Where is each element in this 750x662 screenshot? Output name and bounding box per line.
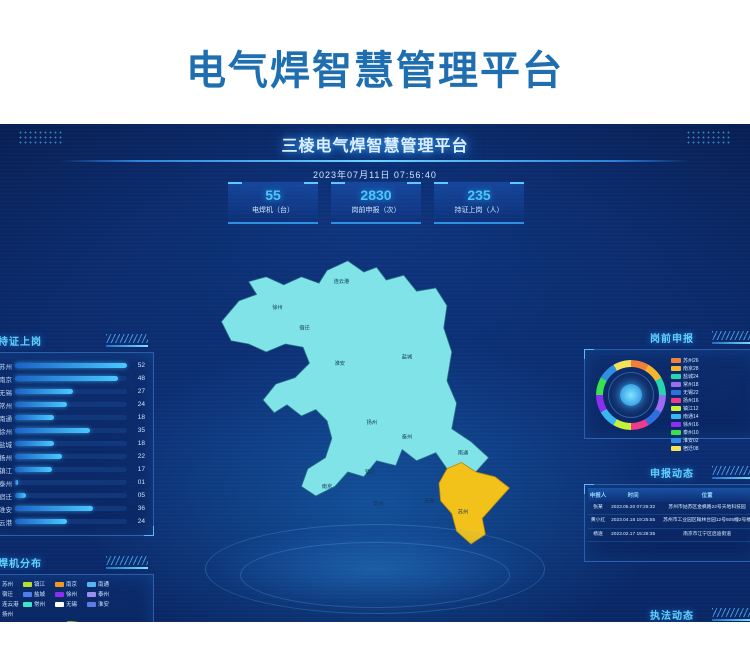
bar-track	[15, 376, 127, 381]
legend-swatch	[671, 438, 681, 443]
bar-track	[15, 454, 127, 459]
legend-item: 宿迁	[0, 590, 20, 598]
legend-swatch	[87, 582, 96, 587]
bar-track	[15, 441, 127, 446]
pie-slice	[67, 621, 100, 622]
legend-swatch	[671, 366, 681, 371]
bar-track	[15, 389, 127, 394]
bar-value: 05	[127, 492, 145, 499]
bar-chart-row: 泰州01	[0, 476, 145, 489]
kpi-value: 55	[228, 187, 318, 203]
map-city-label: 无锡	[424, 496, 434, 504]
table-body: 张某2023.05.20 07:25:32苏州市姑苏区金枫路22号天地科技园黄小…	[588, 502, 750, 542]
legend-label: 盐城24	[683, 373, 699, 380]
column-header: 申报人	[588, 488, 608, 502]
bar-label: 南通	[0, 413, 15, 423]
panel-header: 焊机分布	[0, 554, 154, 574]
legend-label: 淮安	[98, 600, 109, 608]
kpi-value: 235	[434, 187, 524, 203]
legend-item: 宿迁08	[671, 445, 713, 452]
legend-item: 盐城	[23, 590, 52, 598]
bar-fill	[15, 493, 26, 498]
bar-chart-row: 连云港24	[0, 515, 145, 528]
kpi-card-certified: 235 持证上岗（人）	[434, 182, 524, 224]
bar-label: 常州	[0, 400, 15, 410]
map-svg[interactable]: 徐州连云港宿迁淮安盐城扬州泰州南通南京镇江常州无锡苏州	[165, 232, 585, 552]
legend-item: 淮安	[87, 600, 116, 608]
bar-label: 淮安	[0, 504, 15, 514]
bar-fill	[15, 506, 93, 511]
legend-item: 南京	[55, 580, 84, 588]
underline-decor	[712, 477, 750, 479]
legend-item: 镇江	[23, 580, 52, 588]
legend-swatch	[23, 592, 32, 597]
legend-label: 无锡22	[683, 389, 699, 396]
table-row[interactable]: 张某2023.05.20 07:25:32苏州市姑苏区金枫路22号天地科技园	[588, 502, 750, 515]
legend-swatch	[23, 582, 32, 587]
legend-item: 常州18	[671, 381, 713, 388]
legend-label: 宿迁	[2, 590, 13, 598]
legend-label: 无锡	[66, 600, 77, 608]
legend-label: 南通	[98, 580, 109, 588]
bar-track	[15, 415, 127, 420]
table-cell: 苏州市工业园区翰林台园12号505幢2号楼	[658, 515, 750, 528]
legend-label: 扬州	[2, 610, 13, 618]
bar-label: 南京	[0, 374, 15, 384]
bar-track	[15, 363, 127, 368]
bar-track	[15, 402, 127, 407]
bar-chart-row: 扬州22	[0, 450, 145, 463]
table-cell: 2023.04.18 19:25:55	[608, 515, 658, 528]
underline-decor	[106, 567, 148, 569]
bar-label: 宿迁	[0, 491, 15, 501]
legend-swatch	[671, 382, 681, 387]
dashboard-header: 三棱电气焊智慧管理平台	[0, 124, 750, 166]
table-cell: 2023.05.20 07:25:32	[608, 502, 658, 515]
table-header-row: 申报人 时间 位置	[588, 488, 750, 502]
table-cell: 南京市江宁区启迪街道	[658, 528, 750, 541]
legend-label: 淮安02	[683, 437, 699, 444]
bar-chart-rows: 苏州52南京48无锡27常州24南通18徐州35盐城18扬州22镇江17泰州01…	[0, 359, 145, 528]
map-region-north[interactable]	[221, 261, 488, 496]
legend-item: 泰州	[87, 590, 116, 598]
table-row[interactable]: 黄小红2023.04.18 19:25:55苏州市工业园区翰林台园12号505幢…	[588, 515, 750, 528]
donut-legend: 苏州26南京28盐城24常州18无锡22扬州16镇江12南通14徐州16泰州10…	[671, 354, 750, 434]
panel-title: 焊机分布	[0, 555, 42, 570]
bar-chart-row: 淮安36	[0, 502, 145, 515]
hatch-decor-icon	[712, 466, 750, 475]
bar-label: 徐州	[0, 426, 15, 436]
legend-swatch	[87, 592, 96, 597]
legend-swatch	[671, 406, 681, 411]
kpi-value: 2830	[331, 187, 421, 203]
legend-label: 常州	[34, 600, 45, 608]
panel-body: 苏州镇江南京南通宿迁盐城徐州泰州连云港常州无锡淮安扬州	[0, 574, 154, 622]
bar-value: 24	[127, 518, 145, 525]
column-header: 时间	[608, 488, 658, 502]
panel-header: 岗前申报	[584, 329, 750, 349]
donut-core-glow-icon	[620, 384, 642, 406]
kpi-label: 岗前申报（次）	[331, 205, 421, 215]
legend-swatch	[671, 430, 681, 435]
kpi-label: 持证上岗（人）	[434, 205, 524, 215]
kpi-label: 电焊机（台）	[228, 205, 318, 215]
legend-item: 苏州26	[671, 357, 713, 364]
bar-chart-row: 徐州35	[0, 424, 145, 437]
bar-track	[15, 428, 127, 433]
legend-swatch	[671, 358, 681, 363]
panel-welder-distribution: 焊机分布 苏州镇江南京南通宿迁盐城徐州泰州连云港常州无锡淮安扬州	[0, 554, 154, 622]
legend-label: 苏州	[2, 580, 13, 588]
legend-swatch	[671, 414, 681, 419]
panel-certified-bar-chart: 持证上岗 苏州52南京48无锡27常州24南通18徐州35盐城18扬州22镇江1…	[0, 332, 154, 536]
legend-label: 泰州10	[683, 429, 699, 436]
table-cell: 张某	[588, 502, 608, 515]
bar-chart-row: 盐城18	[0, 437, 145, 450]
bar-value: 36	[127, 505, 145, 512]
legend-swatch	[55, 602, 64, 607]
bar-fill	[15, 428, 90, 433]
legend-item: 淮安02	[671, 437, 713, 444]
bar-label: 苏州	[0, 361, 15, 371]
bar-chart-row: 常州24	[0, 398, 145, 411]
bar-fill	[15, 376, 118, 381]
bar-fill	[15, 480, 18, 485]
hatch-decor-icon	[106, 556, 148, 565]
legend-item: 徐州16	[671, 421, 713, 428]
dashboard-title: 三棱电气焊智慧管理平台	[0, 132, 750, 156]
bar-label: 连云港	[0, 517, 15, 527]
declaration-table: 申报人 时间 位置 张某2023.05.20 07:25:32苏州市姑苏区金枫路…	[588, 488, 750, 542]
table-cell: 2023.02.17 15:28:35	[608, 528, 658, 541]
bar-chart-row: 南京48	[0, 372, 145, 385]
legend-item: 镇江12	[671, 405, 713, 412]
legend-swatch	[671, 390, 681, 395]
legend-label: 镇江12	[683, 405, 699, 412]
bar-track	[15, 506, 127, 511]
legend-swatch	[87, 602, 96, 607]
bar-value: 17	[127, 466, 145, 473]
donut-chart	[589, 354, 671, 434]
map-base-ring	[240, 542, 510, 608]
legend-swatch	[23, 602, 32, 607]
panel-title: 持证上岗	[0, 333, 42, 348]
legend-label: 苏州26	[683, 357, 699, 364]
legend-item: 南通14	[671, 413, 713, 420]
bar-value: 18	[127, 440, 145, 447]
bar-fill	[15, 441, 54, 446]
table-cell: 苏州市姑苏区金枫路22号天地科技园	[658, 502, 750, 515]
legend-label: 南京	[66, 580, 77, 588]
bar-track	[15, 467, 127, 472]
map-city-label: 常州	[373, 500, 383, 508]
legend-label: 连云港	[2, 600, 19, 608]
kpi-row: 55 电焊机（台） 2830 岗前申报（次） 235 持证上岗（人）	[228, 182, 524, 224]
jiangsu-map[interactable]: 徐州连云港宿迁淮安盐城扬州泰州南通南京镇江常州无锡苏州	[165, 232, 585, 552]
bar-chart-row: 苏州52	[0, 359, 145, 372]
panel-body: 申报人 时间 位置 张某2023.05.20 07:25:32苏州市姑苏区金枫路…	[584, 484, 750, 562]
pie-chart-svg	[28, 621, 110, 622]
dashboard: 三棱电气焊智慧管理平台 2023年07月11日 07:56:40 55 电焊机（…	[0, 124, 750, 622]
legend-item: 无锡22	[671, 389, 713, 396]
legend-item: 常州	[23, 600, 52, 608]
legend-label: 南通14	[683, 413, 699, 420]
bar-label: 无锡	[0, 387, 15, 397]
legend-label: 常州18	[683, 381, 699, 388]
bar-label: 扬州	[0, 452, 15, 462]
legend-label: 宿迁08	[683, 445, 699, 452]
bar-fill	[15, 454, 62, 459]
table-row[interactable]: 杨逐2023.02.17 15:28:35南京市江宁区启迪街道	[588, 528, 750, 541]
legend-label: 泰州	[98, 590, 109, 598]
panel-declaration-dynamic: 申报动态 申报人 时间 位置 张某2023.05.20 07:25:32苏州市姑…	[584, 464, 750, 562]
legend-swatch	[55, 592, 64, 597]
legend-swatch	[671, 374, 681, 379]
bar-label: 镇江	[0, 465, 15, 475]
bar-label: 盐城	[0, 439, 15, 449]
legend-item: 泰州10	[671, 429, 713, 436]
panel-body: 苏州52南京48无锡27常州24南通18徐州35盐城18扬州22镇江17泰州01…	[0, 352, 154, 536]
bar-chart-row: 镇江17	[0, 463, 145, 476]
header-divider	[60, 160, 690, 162]
panel-declaration-donut: 岗前申报 苏州26南京28盐城24常州18无锡22扬州16镇江12南通14徐州1…	[584, 329, 750, 439]
bar-chart-row: 无锡27	[0, 385, 145, 398]
bar-chart-row: 南通18	[0, 411, 145, 424]
panel-law-enforcement: 执法动态 执法对象 违规原因 处罚结果 郑伟无证上岗作业教育丹丹无证上岗作业罚款…	[584, 606, 750, 622]
legend-item: 南通	[87, 580, 116, 588]
bar-label: 泰州	[0, 478, 15, 488]
bar-fill	[15, 519, 67, 524]
bar-value: 52	[127, 362, 145, 369]
bar-track	[15, 493, 127, 498]
panel-body: 苏州26南京28盐城24常州18无锡22扬州16镇江12南通14徐州16泰州10…	[584, 349, 750, 439]
legend-label: 徐州	[66, 590, 77, 598]
bar-fill	[15, 363, 127, 368]
bar-value: 18	[127, 414, 145, 421]
bar-fill	[15, 389, 73, 394]
hatch-decor-icon	[712, 608, 750, 617]
panel-header: 申报动态	[584, 464, 750, 484]
underline-decor	[712, 342, 750, 344]
table-cell: 黄小红	[588, 515, 608, 528]
kpi-card-welders: 55 电焊机（台）	[228, 182, 318, 224]
hatch-decor-icon	[106, 334, 148, 343]
table-cell: 杨逐	[588, 528, 608, 541]
kpi-card-declarations: 2830 岗前申报（次）	[331, 182, 421, 224]
bar-value: 27	[127, 388, 145, 395]
panel-header: 执法动态	[584, 606, 750, 622]
bar-value: 24	[127, 401, 145, 408]
bar-track	[15, 519, 127, 524]
pie-legend: 苏州镇江南京南通宿迁盐城徐州泰州连云港常州无锡淮安扬州	[0, 580, 147, 618]
bar-value: 48	[127, 375, 145, 382]
bar-value: 35	[127, 427, 145, 434]
legend-swatch	[671, 422, 681, 427]
bar-track	[15, 480, 127, 485]
legend-label: 扬州16	[683, 397, 699, 404]
legend-swatch	[671, 446, 681, 451]
legend-item: 徐州	[55, 590, 84, 598]
page-title: 电气焊智慧管理平台	[0, 0, 750, 124]
column-header: 位置	[658, 488, 750, 502]
legend-swatch	[671, 398, 681, 403]
pie-chart	[28, 621, 110, 622]
underline-decor	[106, 345, 148, 347]
hatch-decor-icon	[712, 331, 750, 340]
legend-swatch	[55, 582, 64, 587]
bar-fill	[15, 467, 52, 472]
bar-fill	[15, 415, 54, 420]
bar-chart-row: 宿迁05	[0, 489, 145, 502]
map-regions[interactable]	[221, 261, 509, 544]
bar-value: 01	[127, 479, 145, 486]
legend-label: 南京28	[683, 365, 699, 372]
legend-label: 盐城	[34, 590, 45, 598]
legend-item: 扬州	[0, 610, 20, 618]
legend-label: 镇江	[34, 580, 45, 588]
legend-label: 徐州16	[683, 421, 699, 428]
bar-fill	[15, 402, 67, 407]
panel-header: 持证上岗	[0, 332, 154, 352]
legend-item: 苏州	[0, 580, 20, 588]
legend-item: 无锡	[55, 600, 84, 608]
legend-item: 盐城24	[671, 373, 713, 380]
legend-item: 连云港	[0, 600, 20, 608]
legend-item: 扬州16	[671, 397, 713, 404]
datetime-display: 2023年07月11日 07:56:40	[0, 168, 750, 181]
underline-decor	[712, 619, 750, 621]
legend-item: 南京28	[671, 365, 713, 372]
bar-value: 22	[127, 453, 145, 460]
